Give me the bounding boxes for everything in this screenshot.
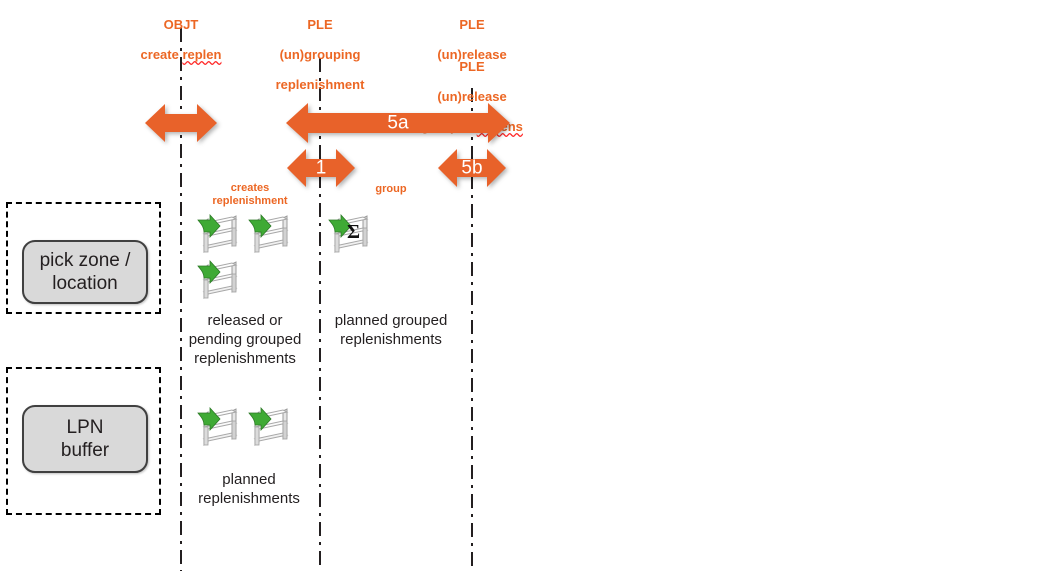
replenishment-rack-icon[interactable] [194, 212, 242, 256]
column-header-objt: OBJT create replen [116, 2, 246, 77]
column-header-objt-line1: OBJT [116, 17, 246, 32]
arrow-5b-label: 5b [438, 159, 506, 178]
replenishment-rack-icon[interactable] [245, 212, 293, 256]
annotation-creates-replenishment: creates replenishment [196, 182, 304, 208]
column-header-release-line1: PLE [407, 17, 537, 32]
sigma-glyph: Σ [347, 221, 360, 243]
column-header-grouping-line1: PLE [255, 17, 385, 32]
column-header-grouping-line3: replenishment [255, 77, 385, 92]
arrow-1-label: 1 [287, 159, 355, 178]
arrow-5a[interactable]: 5a [286, 100, 510, 146]
misspelled-word-replen: replen [182, 47, 221, 62]
arrow-5a-label: 5a [286, 114, 510, 133]
column-header-release-secondary-line1: PLE [407, 59, 537, 74]
grouped-replenishment-rack-sigma-icon[interactable]: Σ [325, 212, 373, 256]
annotation-group: group [360, 183, 422, 196]
caption-planned-grouped: planned grouped replenishments [326, 311, 456, 349]
zone-pill-pick-zone[interactable]: pick zone / location [22, 240, 148, 304]
caption-released-pending-grouped: released or pending grouped replenishmen… [176, 311, 314, 368]
column-header-grouping-line2: (un)grouping [255, 47, 385, 62]
replenishment-rack-icon[interactable] [245, 405, 293, 449]
column-header-objt-line2: create replen [116, 47, 246, 62]
arrow-5b[interactable]: 5b [438, 146, 506, 190]
zone-pill-lpn-buffer[interactable]: LPN buffer [22, 405, 148, 473]
arrow-objt-create[interactable] [145, 100, 217, 146]
replenishment-rack-icon[interactable] [194, 405, 242, 449]
column-header-grouping: PLE (un)grouping replenishment [255, 2, 385, 107]
caption-planned-replenishments: planned replenishments [182, 470, 316, 508]
replenishment-rack-icon[interactable] [194, 258, 242, 302]
diagram-canvas: OBJT create replen PLE (un)grouping repl… [0, 0, 1060, 571]
